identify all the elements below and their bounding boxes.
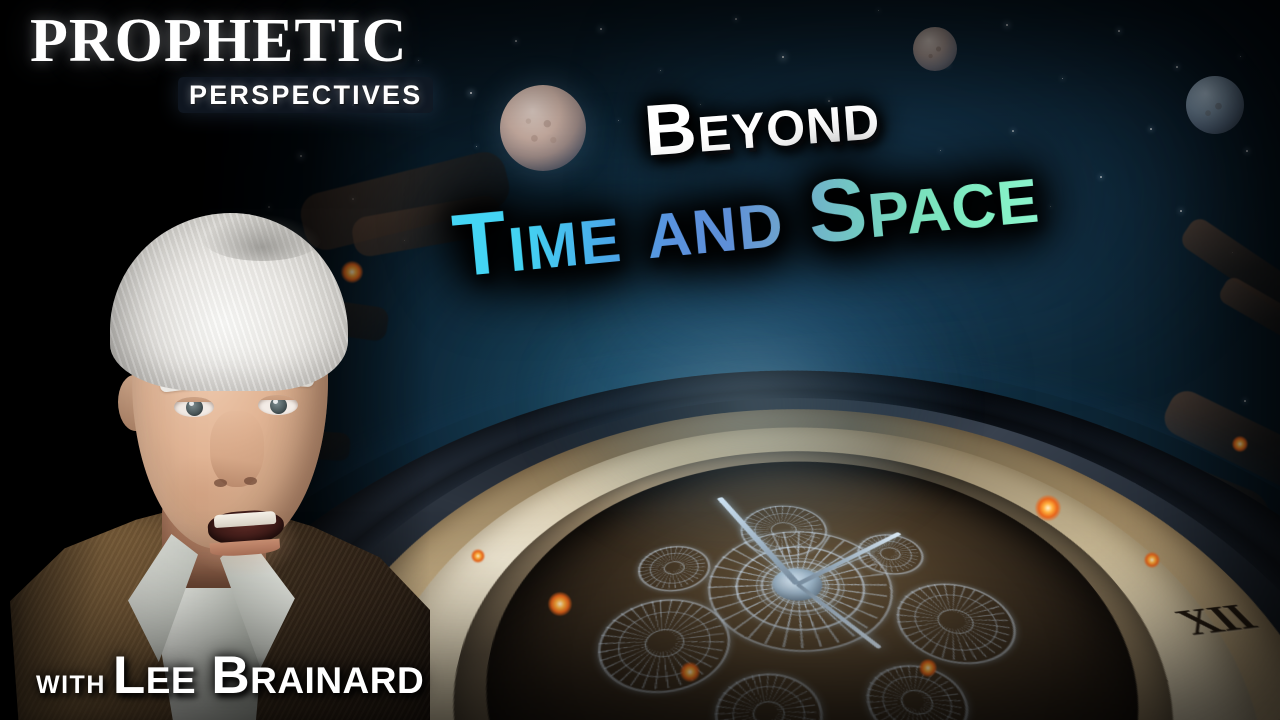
eye-left (174, 397, 214, 417)
eyelid-left (174, 397, 214, 402)
planet-craters (1186, 76, 1244, 134)
ember-spark (680, 662, 700, 682)
nostril-right (244, 477, 257, 485)
ember-spark (1232, 436, 1248, 452)
show-logo: PROPHETIC PERSPECTIVES (30, 10, 433, 113)
ember-spark (1144, 552, 1160, 568)
logo-subtitle-plate: PERSPECTIVES (178, 77, 433, 113)
ember-spark (919, 659, 937, 677)
ember-spark (548, 592, 572, 616)
nose (210, 411, 264, 487)
planet-craters (500, 85, 586, 171)
planet-craters (913, 27, 957, 71)
byline-prefix: with (36, 662, 106, 701)
eyelid-right (258, 395, 298, 400)
ember-spark (471, 549, 485, 563)
planet-small-grey-icon (913, 27, 957, 71)
byline-host-name: Lee Brainard (113, 646, 424, 705)
host-portrait (10, 205, 430, 720)
ember-spark (1035, 495, 1061, 521)
nostril-left (214, 479, 227, 487)
logo-secondary-text: PERSPECTIVES (189, 82, 422, 109)
planet-large-cratered-icon (500, 85, 586, 171)
eye-right (258, 395, 298, 415)
thumbnail-canvas: XIIIIIIIIIIIIVVIVIIVIIIIXXXI (0, 0, 1280, 720)
host-byline: withLee Brainard (36, 645, 424, 706)
hair-shadow (202, 215, 322, 261)
logo-primary-text: PROPHETIC (30, 10, 433, 72)
planet-right-blue-icon (1186, 76, 1244, 134)
